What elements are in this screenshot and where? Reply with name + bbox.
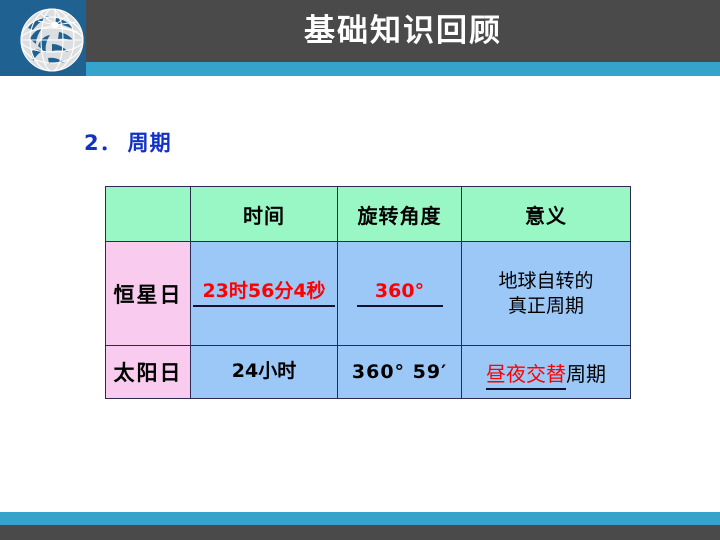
solar-meaning-highlight: 昼夜交替: [486, 362, 566, 390]
cell-sidereal-angle: 360°: [338, 242, 462, 346]
section-label: 周期: [128, 131, 172, 155]
solar-meaning: 昼夜交替周期: [486, 362, 606, 390]
page-title: 基础知识回顾: [86, 0, 720, 62]
sidereal-angle-value: 360°: [357, 280, 443, 307]
row-label-solar-day: 太阳日: [106, 346, 191, 399]
cell-solar-time: 24小时: [191, 346, 338, 399]
sidereal-meaning-line-1: 地球自转的: [462, 269, 630, 294]
section-heading: 2．周期: [84, 127, 172, 157]
header-accent-stripe: [0, 62, 720, 76]
table-header-row: 时间 旋转角度 意义: [106, 187, 631, 242]
table-row: 太阳日 24小时 360° 59′ 昼夜交替周期: [106, 346, 631, 399]
footer-accent-stripe: [0, 512, 720, 525]
table-header-meaning: 意义: [462, 187, 631, 242]
cell-solar-angle: 360° 59′: [338, 346, 462, 399]
row-label-sidereal-day: 恒星日: [106, 242, 191, 346]
period-comparison-table: 时间 旋转角度 意义 恒星日 23时56分4秒 360° 地球自转的 真正周期 …: [105, 186, 631, 399]
sidereal-meaning-line-2: 真正周期: [462, 294, 630, 319]
table-header-time: 时间: [191, 187, 338, 242]
section-separator: ．: [100, 131, 121, 155]
footer-bar: [0, 525, 720, 540]
section-number: 2: [84, 131, 100, 155]
cell-sidereal-time: 23时56分4秒: [191, 242, 338, 346]
sidereal-time-value: 23时56分4秒: [193, 280, 335, 307]
table-header-angle: 旋转角度: [338, 187, 462, 242]
logo-panel: [0, 0, 86, 76]
slide: 基础知识回顾: [0, 0, 720, 540]
cell-solar-meaning: 昼夜交替周期: [462, 346, 631, 399]
table-row: 恒星日 23时56分4秒 360° 地球自转的 真正周期: [106, 242, 631, 346]
solar-meaning-suffix: 周期: [566, 362, 606, 386]
cell-sidereal-meaning: 地球自转的 真正周期: [462, 242, 631, 346]
table-header-corner: [106, 187, 191, 242]
